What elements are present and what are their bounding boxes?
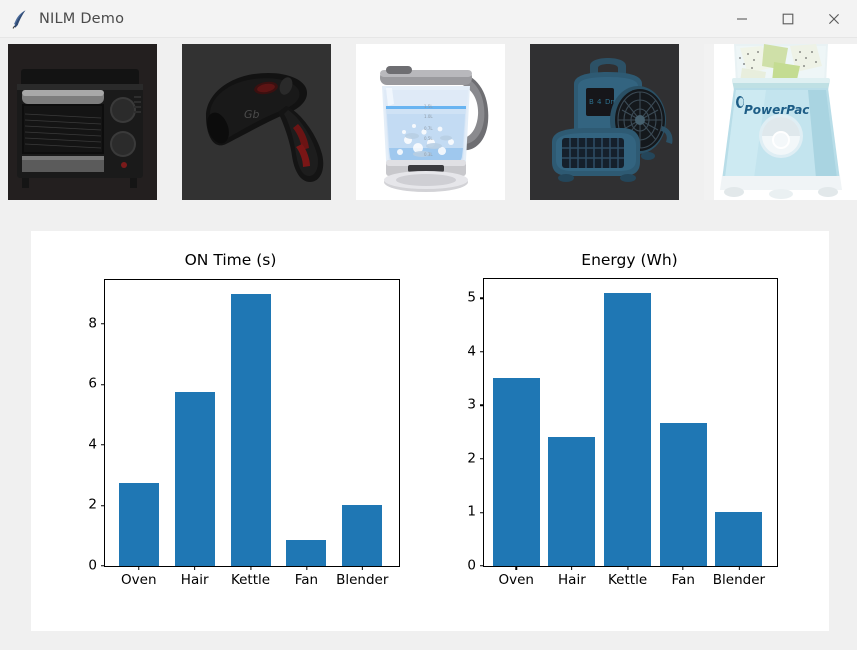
svg-text:0.3L: 0.3L (424, 152, 433, 157)
ytick-label: 4 (88, 438, 97, 452)
ytick-mark (480, 458, 484, 459)
xtick-mark (516, 566, 517, 570)
xtick-label: Blender (713, 574, 765, 588)
ytick-on-time-8: 8 (88, 317, 105, 331)
xtick-label: Blender (336, 574, 388, 588)
ytick-mark (480, 512, 484, 513)
ytick-mark (480, 298, 484, 299)
xtick-on-time-kettle: Kettle (231, 566, 270, 588)
xtick-mark (194, 566, 195, 570)
plot-area-energy: 0 1 2 3 4 (483, 278, 778, 567)
xtick-energy-oven: Oven (498, 566, 533, 588)
xtick-energy-kettle: Kettle (608, 566, 647, 588)
xtick-on-time-hair: Hair (181, 566, 209, 588)
bars-on-time (105, 280, 399, 566)
xtick-mark (683, 566, 684, 570)
window-title: NILM Demo (39, 11, 124, 27)
bar-on-time-fan (286, 540, 326, 566)
ytick-label: 5 (467, 291, 476, 305)
chart-energy: Energy (Wh) 0 1 (430, 231, 829, 631)
bar-on-time-oven (119, 483, 159, 566)
ytick-label: 0 (467, 559, 476, 573)
ytick-on-time-2: 2 (88, 499, 105, 513)
ytick-mark (480, 565, 484, 566)
minimize-button[interactable] (719, 0, 765, 38)
xtick-label: Oven (498, 574, 533, 588)
xtick-label: Hair (558, 574, 586, 588)
app-window: NILM Demo (0, 0, 857, 650)
ytick-label: 0 (88, 559, 97, 573)
xtick-mark (306, 566, 307, 570)
minimize-icon (736, 13, 748, 25)
appliance-image-fan: B4Dn (530, 44, 679, 200)
ytick-label: 2 (88, 499, 97, 513)
svg-text:1.5L: 1.5L (424, 104, 433, 109)
title-bar: NILM Demo (0, 0, 857, 38)
svg-text:0.5L: 0.5L (424, 136, 433, 141)
bar-on-time-kettle (231, 294, 271, 566)
ytick-label: 1 (467, 506, 476, 520)
ytick-on-time-4: 4 (88, 438, 105, 452)
ytick-label: 3 (467, 399, 476, 413)
chart-title-on-time: ON Time (s) (31, 251, 430, 269)
bar-on-time-blender (342, 505, 382, 566)
tk-feather-icon (9, 8, 31, 30)
ytick-label: 2 (467, 452, 476, 466)
ytick-mark (101, 444, 105, 445)
appliance-image-blender: PowerPac (704, 44, 857, 200)
charts-panel: ON Time (s) 0 2 (31, 231, 829, 631)
appliance-image-hair-dryer: Gb (182, 44, 331, 200)
appliance-image-strip: Gb (0, 44, 857, 200)
ytick-mark (101, 565, 105, 566)
xtick-label: Oven (121, 574, 156, 588)
ytick-label: 8 (88, 317, 97, 331)
xtick-mark (738, 566, 739, 570)
xtick-on-time-fan: Fan (295, 566, 318, 588)
xtick-on-time-oven: Oven (121, 566, 156, 588)
ytick-energy-1: 1 (467, 506, 484, 520)
svg-text:1.0L: 1.0L (424, 114, 433, 119)
ytick-mark (101, 505, 105, 506)
xtick-mark (250, 566, 251, 570)
bar-energy-fan (660, 423, 707, 567)
xtick-label: Hair (181, 574, 209, 588)
ytick-energy-2: 2 (467, 452, 484, 466)
plot-area-on-time: 0 2 4 6 8 (104, 279, 400, 567)
bars-energy (484, 279, 777, 566)
bar-energy-blender (715, 512, 762, 566)
ytick-mark (480, 351, 484, 352)
appliance-image-oven (8, 44, 157, 200)
xtick-mark (362, 566, 363, 570)
bar-energy-kettle (604, 293, 651, 566)
ytick-mark (480, 405, 484, 406)
svg-text:PowerPac: PowerPac (744, 103, 809, 117)
xtick-energy-blender: Blender (713, 566, 765, 588)
ytick-energy-4: 4 (467, 345, 484, 359)
xtick-energy-fan: Fan (672, 566, 695, 588)
xtick-mark (138, 566, 139, 570)
ytick-mark (101, 323, 105, 324)
ytick-on-time-0: 0 (88, 559, 105, 573)
xtick-mark (571, 566, 572, 570)
svg-text:4: 4 (597, 98, 602, 106)
bar-energy-hair (548, 437, 595, 566)
ytick-label: 4 (467, 345, 476, 359)
ytick-energy-5: 5 (467, 291, 484, 305)
bar-energy-oven (493, 378, 540, 566)
xtick-on-time-blender: Blender (336, 566, 388, 588)
xtick-label: Kettle (231, 574, 270, 588)
ytick-on-time-6: 6 (88, 378, 105, 392)
maximize-icon (782, 13, 794, 25)
xtick-label: Fan (672, 574, 695, 588)
xtick-label: Fan (295, 574, 318, 588)
maximize-button[interactable] (765, 0, 811, 38)
close-icon (828, 13, 840, 25)
ytick-label: 6 (88, 378, 97, 392)
close-button[interactable] (811, 0, 857, 38)
chart-on-time: ON Time (s) 0 2 (31, 231, 430, 631)
appliance-image-kettle: 1.5L1.0L 0.7L0.5L0.3L (356, 44, 505, 200)
bar-on-time-hair (175, 392, 215, 566)
chart-title-energy: Energy (Wh) (430, 251, 829, 269)
ytick-mark (101, 384, 105, 385)
window-controls (719, 0, 857, 38)
xtick-energy-hair: Hair (558, 566, 586, 588)
svg-text:Gb: Gb (244, 108, 260, 121)
xtick-label: Kettle (608, 574, 647, 588)
ytick-energy-3: 3 (467, 399, 484, 413)
svg-text:B: B (589, 98, 594, 106)
xtick-mark (627, 566, 628, 570)
ytick-energy-0: 0 (467, 559, 484, 573)
svg-text:0.7L: 0.7L (424, 126, 433, 131)
